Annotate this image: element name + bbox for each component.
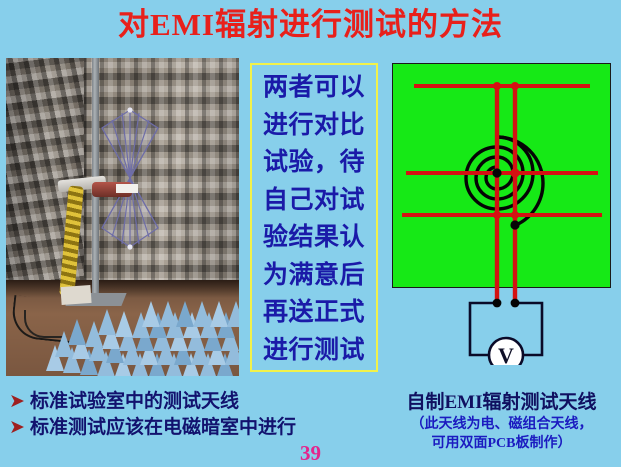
arrow-bullet-icon: ➤ [4, 415, 30, 441]
text-line: 自己对试 [252, 182, 376, 220]
floor-cone-absorbers [46, 301, 239, 376]
center-text-lines: 两者可以 进行对比 试验，待 自己对试 验结果认 为满意后 再送正式 进行测试 [252, 69, 376, 369]
voltmeter-label: V [498, 343, 514, 365]
text-line: 试验，待 [252, 144, 376, 182]
slide-canvas: 对EMI辐射进行测试的方法 [0, 0, 621, 467]
antenna-schematic: V [392, 63, 612, 365]
meter-terminal-right [511, 299, 520, 308]
anechoic-chamber-photo [6, 58, 239, 376]
text-line: 再送正式 [252, 294, 376, 332]
bullet-label: 标准测试应该在电磁暗室中进行 [30, 415, 296, 441]
caption-title: 自制EMI辐射测试天线 [382, 390, 621, 415]
list-item: ➤ 标准试验室中的测试天线 [4, 389, 334, 415]
spiral-coil [466, 137, 543, 225]
page-title: 对EMI辐射进行测试的方法 [0, 6, 621, 44]
text-line: 为满意后 [252, 257, 376, 295]
list-item: ➤ 标准测试应该在电磁暗室中进行 [4, 415, 334, 441]
arrow-bullet-icon: ➤ [4, 389, 30, 415]
caption-sub-line-1: （此天线为电、磁组合天线， [382, 415, 621, 434]
bullet-list: ➤ 标准试验室中的测试天线 ➤ 标准测试应该在电磁暗室中进行 [4, 389, 334, 441]
antenna-feed-white [116, 184, 138, 193]
biconical-antenna [98, 106, 162, 251]
meter-terminal-left [493, 299, 502, 308]
text-line: 验结果认 [252, 219, 376, 257]
red-traces [402, 86, 602, 303]
center-text-box: 两者可以 进行对比 试验，待 自己对试 验结果认 为满意后 再送正式 进行测试 [250, 63, 378, 372]
text-line: 进行对比 [252, 107, 376, 145]
bullet-label: 标准试验室中的测试天线 [30, 389, 239, 415]
pcb-antenna-diagram: V [392, 63, 612, 365]
text-line: 进行测试 [252, 332, 376, 370]
page-number: 39 [0, 441, 621, 466]
text-line: 两者可以 [252, 69, 376, 107]
